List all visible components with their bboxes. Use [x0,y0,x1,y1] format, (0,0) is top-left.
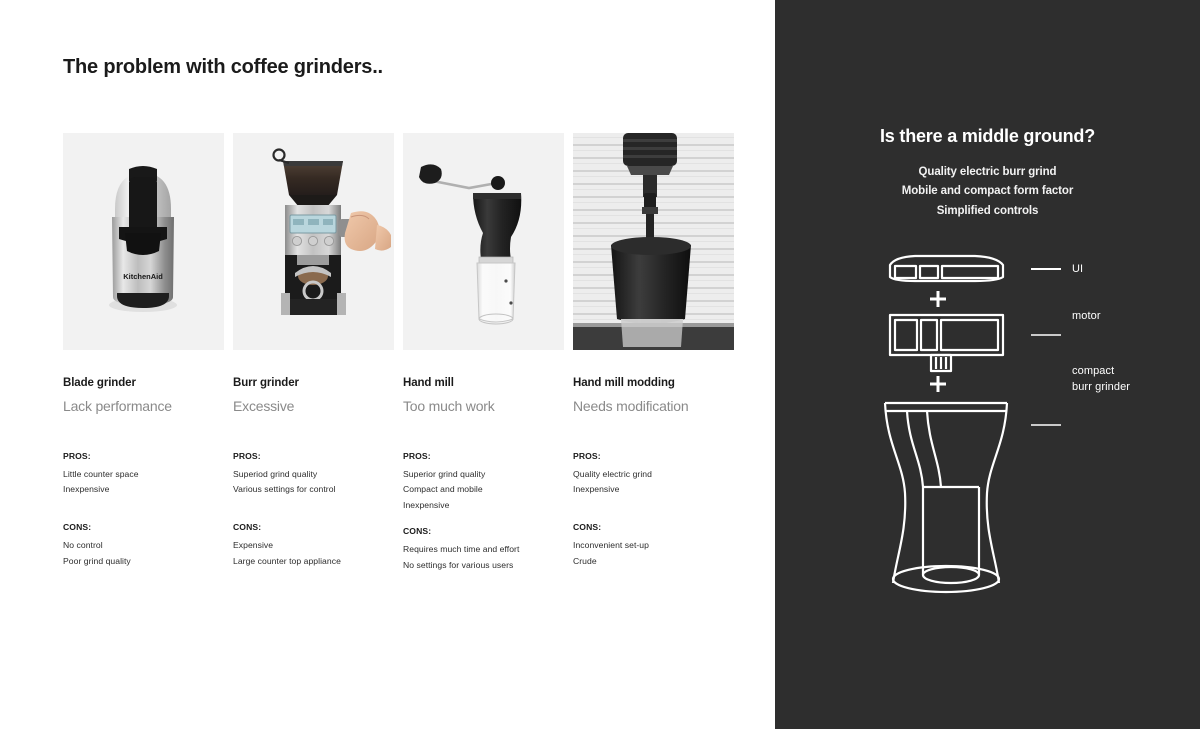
pros-label: PROS: [403,451,564,461]
cons-label: CONS: [573,522,734,532]
cons-item: Requires much time and effort [403,542,564,558]
cons-item: No settings for various users [403,558,564,574]
pros-item: Superiod grind quality [233,467,394,483]
pros-item: Inexpensive [63,482,224,498]
burr-grinder-module-shape [885,403,1007,592]
column-title: Hand mill modding [573,377,734,391]
cons-label: CONS: [233,522,394,532]
cons-item: Crude [573,554,734,570]
pros-label: PROS: [233,451,394,461]
ui-module-shape [890,256,1003,281]
diagram-label-motor: motor [1072,309,1101,325]
pros-item: Little counter space [63,467,224,483]
cons-label: CONS: [403,526,564,536]
column-subtitle: Excessive [233,398,394,415]
slide-root: The problem with coffee grinders.. [0,0,1200,729]
pros-item: Inexpensive [573,482,734,498]
pros-item: Superior grind quality [403,467,564,483]
pros-item: Various settings for control [233,482,394,498]
pros-item: Inexpensive [403,498,564,514]
pros-block: PROS: Superiod grind quality Various set… [233,451,394,499]
concept-diagram [775,245,1200,635]
right-panel-title: Is there a middle ground? [775,126,1200,147]
pros-block: PROS: Quality electric grind Inexpensive [573,451,734,499]
plus-symbol-1 [930,291,946,307]
hand-mill-photo [403,133,564,350]
right-panel: Is there a middle ground? Quality electr… [775,0,1200,729]
cons-item: Poor grind quality [63,554,224,570]
blade-grinder-photo: KitchenAid [63,133,224,350]
cons-item: Inconvenient set-up [573,538,734,554]
cons-item: No control [63,538,224,554]
cons-block: CONS: No control Poor grind quality [63,522,224,570]
motor-module-shape [890,315,1003,371]
pros-label: PROS: [573,451,734,461]
cons-block: CONS: Expensive Large counter top applia… [233,522,394,570]
column-blade-grinder: KitchenAid Blade grinder Lack performanc… [63,133,224,574]
cons-label: CONS: [63,522,224,532]
bullet-item: Simplified controls [775,202,1200,221]
burr-grinder-photo [233,133,394,350]
page-title: The problem with coffee grinders.. [63,56,383,79]
right-panel-bullets: Quality electric burr grind Mobile and c… [775,163,1200,221]
cons-block: CONS: Requires much time and effort No s… [403,526,564,574]
column-subtitle: Needs modification [573,398,734,415]
column-title: Burr grinder [233,377,394,391]
column-title: Hand mill [403,377,564,391]
cons-block: CONS: Inconvenient set-up Crude [573,522,734,570]
pros-block: PROS: Superior grind quality Compact and… [403,451,564,515]
column-title: Blade grinder [63,377,224,391]
left-panel: The problem with coffee grinders.. [0,0,775,729]
diagram-label-ui: UI [1072,262,1083,278]
comparison-columns: KitchenAid Blade grinder Lack performanc… [63,133,738,574]
cons-item: Large counter top appliance [233,554,394,570]
pros-label: PROS: [63,451,224,461]
column-subtitle: Too much work [403,398,564,415]
diagram-label-compact-burr-grinder: compact burr grinder [1072,364,1130,396]
column-subtitle: Lack performance [63,398,224,415]
pros-item: Quality electric grind [573,467,734,483]
column-hand-mill-modding: Hand mill modding Needs modification PRO… [573,133,734,574]
bullet-item: Quality electric burr grind [775,163,1200,182]
cons-item: Expensive [233,538,394,554]
bullet-item: Mobile and compact form factor [775,182,1200,201]
svg-text:KitchenAid: KitchenAid [123,272,163,281]
column-burr-grinder: Burr grinder Excessive PROS: Superiod gr… [233,133,394,574]
column-hand-mill: Hand mill Too much work PROS: Superior g… [403,133,564,574]
pros-item: Compact and mobile [403,482,564,498]
pros-block: PROS: Little counter space Inexpensive [63,451,224,499]
hand-mill-modding-photo [573,133,734,350]
plus-symbol-2 [930,376,946,392]
